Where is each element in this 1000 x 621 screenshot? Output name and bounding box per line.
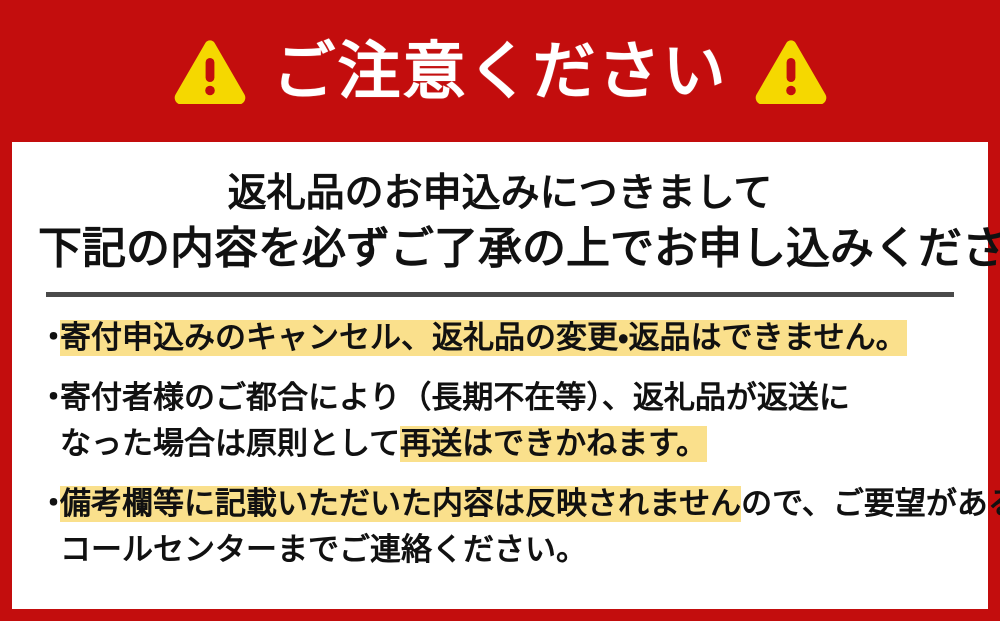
subtitle-line-1: 返礼品のお申込みにつきまして (38, 168, 962, 220)
notice-item-line: なった場合は原則として再送はできかねます。 (60, 421, 962, 467)
bullet-dot-icon: ・ (38, 481, 60, 527)
notice-banner: ご注意ください 返礼品のお申込みにつきまして 下記の内容を必ずご了承の上でお申し… (0, 0, 1000, 621)
notice-item-text: 寄付者様のご都合により（長期不在等）、返礼品が返送になった場合は原則として再送は… (60, 375, 962, 467)
notice-item-line: 寄付申込みのキャンセル、返礼品の変更・返品はできません。 (60, 315, 962, 361)
highlighted-text: 再送はできかねます。 (400, 426, 707, 462)
notice-list-item: ・寄付申込みのキャンセル、返礼品の変更・返品はできません。 (38, 315, 962, 361)
notice-item-text: 寄付申込みのキャンセル、返礼品の変更・返品はできません。 (60, 315, 962, 361)
warning-triangle-icon (173, 38, 247, 104)
notice-list-item: ・寄付者様のご都合により（長期不在等）、返礼品が返送になった場合は原則として再送… (38, 375, 962, 467)
highlighted-text: 備考欄等に記載いただいた内容は反映されません (60, 486, 741, 522)
notice-item-text: 備考欄等に記載いただいた内容は反映されませんので、ご要望がある際はコールセンター… (60, 481, 1000, 573)
banner-title: ご注意ください (273, 40, 728, 103)
notice-panel: 返礼品のお申込みにつきまして 下記の内容を必ずご了承の上でお申し込みください ・… (12, 142, 988, 609)
warning-triangle-icon-right (754, 38, 828, 104)
subtitle-line-2: 下記の内容を必ずご了承の上でお申し込みください (38, 220, 962, 278)
bullet-dot-icon: ・ (38, 315, 60, 361)
highlighted-text: 寄付申込みのキャンセル、返礼品の変更・返品はできません。 (60, 320, 907, 356)
bullet-dot-icon: ・ (38, 375, 60, 421)
notice-item-line: 備考欄等に記載いただいた内容は反映されませんので、ご要望がある際は (60, 481, 1000, 527)
plain-text: 寄付者様のご都合により（長期不在等）、返礼品が返送に (60, 380, 850, 416)
notice-list: ・寄付申込みのキャンセル、返礼品の変更・返品はできません。・寄付者様のご都合によ… (38, 315, 962, 573)
panel-divider (46, 292, 954, 297)
notice-item-line: 寄付者様のご都合により（長期不在等）、返礼品が返送に (60, 375, 962, 421)
plain-text: コールセンターまでご連絡ください。 (60, 532, 587, 568)
plain-text: なった場合は原則として (60, 426, 400, 462)
banner-header: ご注意ください (12, 0, 988, 142)
notice-item-line: コールセンターまでご連絡ください。 (60, 527, 1000, 573)
subtitle-block: 返礼品のお申込みにつきまして 下記の内容を必ずご了承の上でお申し込みください (38, 168, 962, 278)
notice-list-item: ・備考欄等に記載いただいた内容は反映されませんので、ご要望がある際はコールセンタ… (38, 481, 962, 573)
plain-text: ので、ご要望がある際は (741, 486, 1000, 522)
